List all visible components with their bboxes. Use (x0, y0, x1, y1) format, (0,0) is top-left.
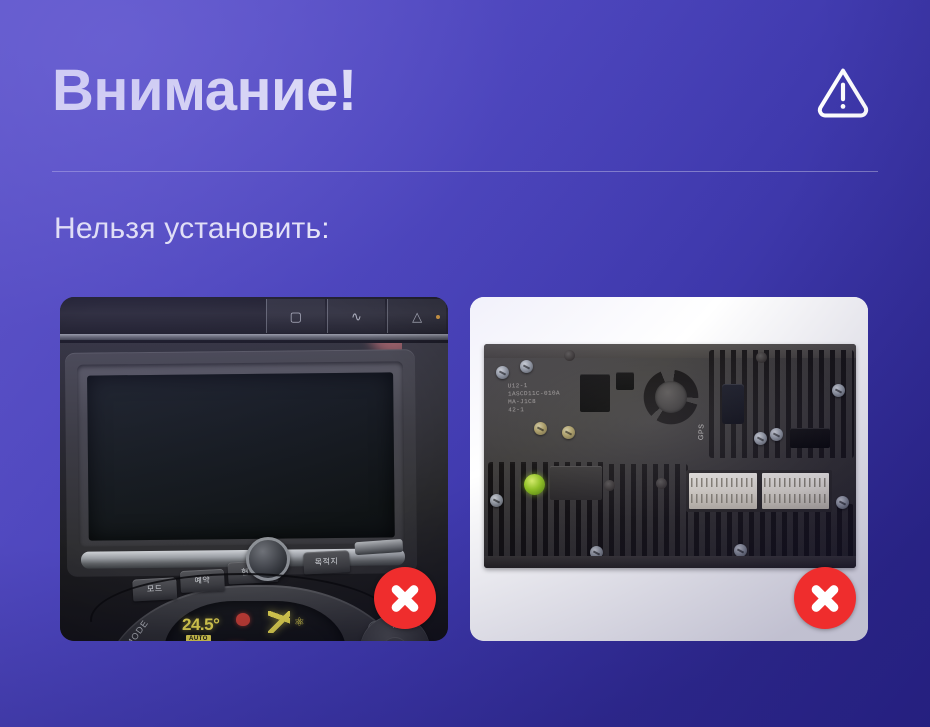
chassis-screw (562, 426, 575, 439)
connector-b (762, 473, 830, 509)
hazard-button: △ (387, 299, 446, 333)
chassis-screw (534, 422, 547, 435)
dashboard-top-trim: ▢ ∿ △ (60, 297, 448, 343)
screen-bezel-inner (77, 361, 405, 546)
wiring-connector-block (686, 470, 832, 512)
dashboard-button-mode: 모드 (132, 577, 177, 601)
defrost-rear-button: ▢ (266, 299, 325, 333)
gps-port-label: GPS (698, 423, 706, 440)
climate-auto-badge: AUTO (186, 635, 211, 641)
chassis-screw (490, 494, 503, 507)
dashboard-button-destination: 목적지 (303, 550, 350, 574)
warning-slide: Внимание! Нельзя установить: ▢ ∿ △ (0, 0, 930, 727)
dab-antenna-port (580, 374, 610, 412)
chassis-rivet (604, 480, 615, 491)
climate-display: 24.5° AUTO ⚛ (164, 601, 346, 641)
airflow-direction-icon (268, 611, 290, 633)
chassis-bottom-rail (484, 556, 856, 568)
photo-cards-row: ▢ ∿ △ 모드 예약 현위치 목적지 (60, 297, 868, 641)
fan-speed-icon: ⚛ (294, 615, 303, 629)
head-unit-screen (87, 372, 395, 540)
chassis-screw (832, 384, 845, 397)
card-car-dashboard: ▢ ∿ △ 모드 예약 현위치 목적지 (60, 297, 448, 641)
chassis-screw (754, 432, 767, 445)
connector-a (689, 473, 757, 509)
dashboard-top-buttons: ▢ ∿ △ (266, 299, 446, 333)
forbidden-badge-left (374, 567, 436, 629)
chassis-screw (770, 428, 783, 441)
chassis-screw (496, 366, 509, 379)
expansion-slot (790, 428, 830, 448)
subtitle: Нельзя установить: (54, 212, 330, 246)
warning-triangle-icon (814, 62, 878, 120)
green-indicator (524, 474, 545, 495)
chassis-rivet (564, 350, 575, 361)
chassis-rivet (756, 352, 767, 363)
volume-knob (246, 537, 290, 581)
header: Внимание! (52, 52, 878, 130)
chassis-screw (520, 360, 533, 373)
header-divider (52, 171, 878, 172)
aux-port (616, 372, 634, 390)
dashboard-button-reserve: 예약 (180, 569, 225, 593)
defrost-front-button: ∿ (327, 299, 386, 333)
head-unit-chassis: U12-1 1ASCD11C-010A MA-J1C8 42-1 GPS (484, 344, 856, 568)
climate-mode-label: MODE (124, 618, 150, 641)
chrome-trim-line (60, 334, 448, 340)
chassis-rivet (656, 478, 667, 489)
chassis-screw (836, 496, 849, 509)
cooling-fan-hub (655, 381, 687, 413)
fan-indicator-icon (236, 613, 250, 626)
forbidden-badge-right (794, 567, 856, 629)
gps-antenna-port (722, 384, 744, 424)
climate-temperature: 24.5° (182, 615, 219, 635)
label-plate (550, 466, 602, 500)
heatsink-fins-bottom-right (694, 504, 854, 560)
card-head-unit-rear: U12-1 1ASCD11C-010A MA-J1C8 42-1 GPS (470, 297, 868, 641)
page-title: Внимание! (52, 62, 357, 120)
chassis-marking-text: U12-1 1ASCD11C-010A MA-J1C8 42-1 (508, 382, 561, 415)
